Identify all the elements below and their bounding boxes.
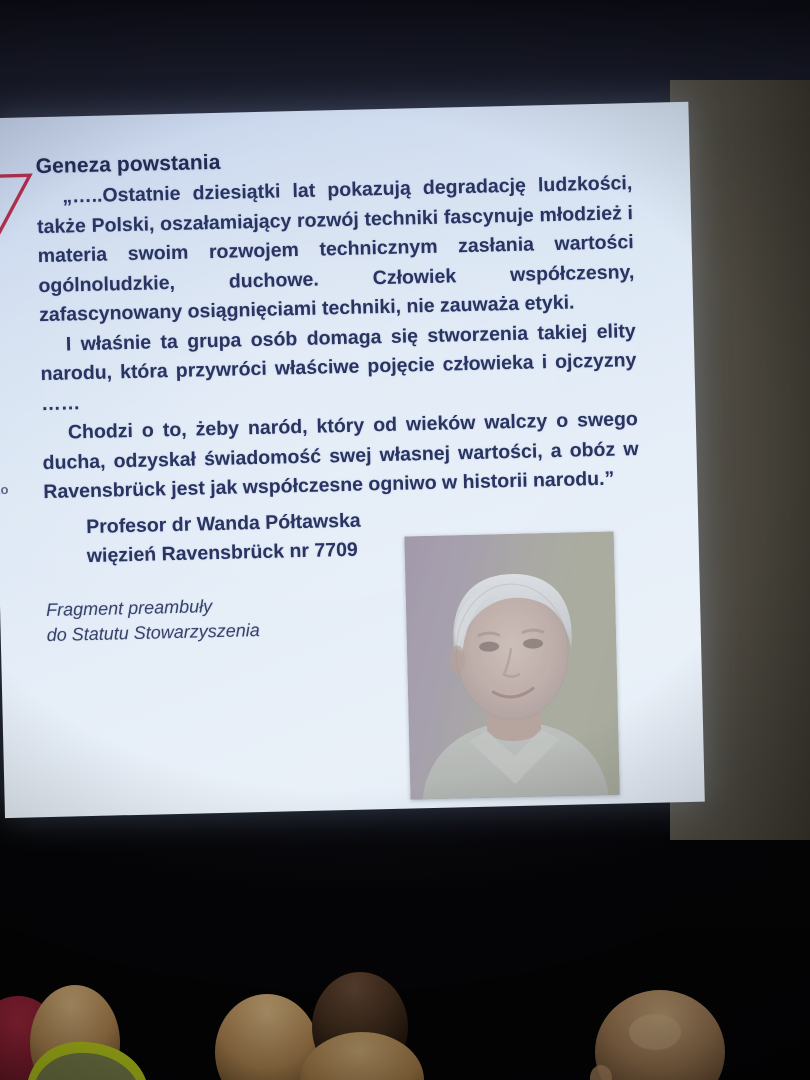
quote-paragraph-1-text: „…..Ostatnie dziesiątki lat pokazują deg… — [37, 172, 635, 326]
projection-screen: ko Geneza powstania „…..Ostatnie dziesią… — [0, 80, 707, 812]
edge-text-fragment: ko — [0, 482, 9, 497]
photo-of-auditorium-screen: ko Geneza powstania „…..Ostatnie dziesią… — [0, 0, 810, 1080]
quote-paragraph-1: „…..Ostatnie dziesiątki lat pokazują deg… — [36, 169, 635, 331]
quote-paragraph-3-text: Chodzi o to, żeby naród, który od wieków… — [42, 408, 638, 503]
portrait-haze — [404, 532, 619, 800]
portrait-photo — [404, 532, 619, 800]
red-inverted-triangle-icon — [0, 169, 35, 245]
audience-head-highlight — [629, 1014, 681, 1050]
quote-paragraph-2: I właśnie ta grupa osób domaga się stwor… — [40, 317, 638, 420]
presentation-slide: ko Geneza powstania „…..Ostatnie dziesią… — [0, 102, 705, 818]
audience-silhouettes — [0, 930, 810, 1080]
quote-paragraph-2-text: I właśnie ta grupa osób domaga się stwor… — [40, 320, 636, 415]
quote-paragraph-3: Chodzi o to, żeby naród, który od wieków… — [42, 405, 640, 508]
